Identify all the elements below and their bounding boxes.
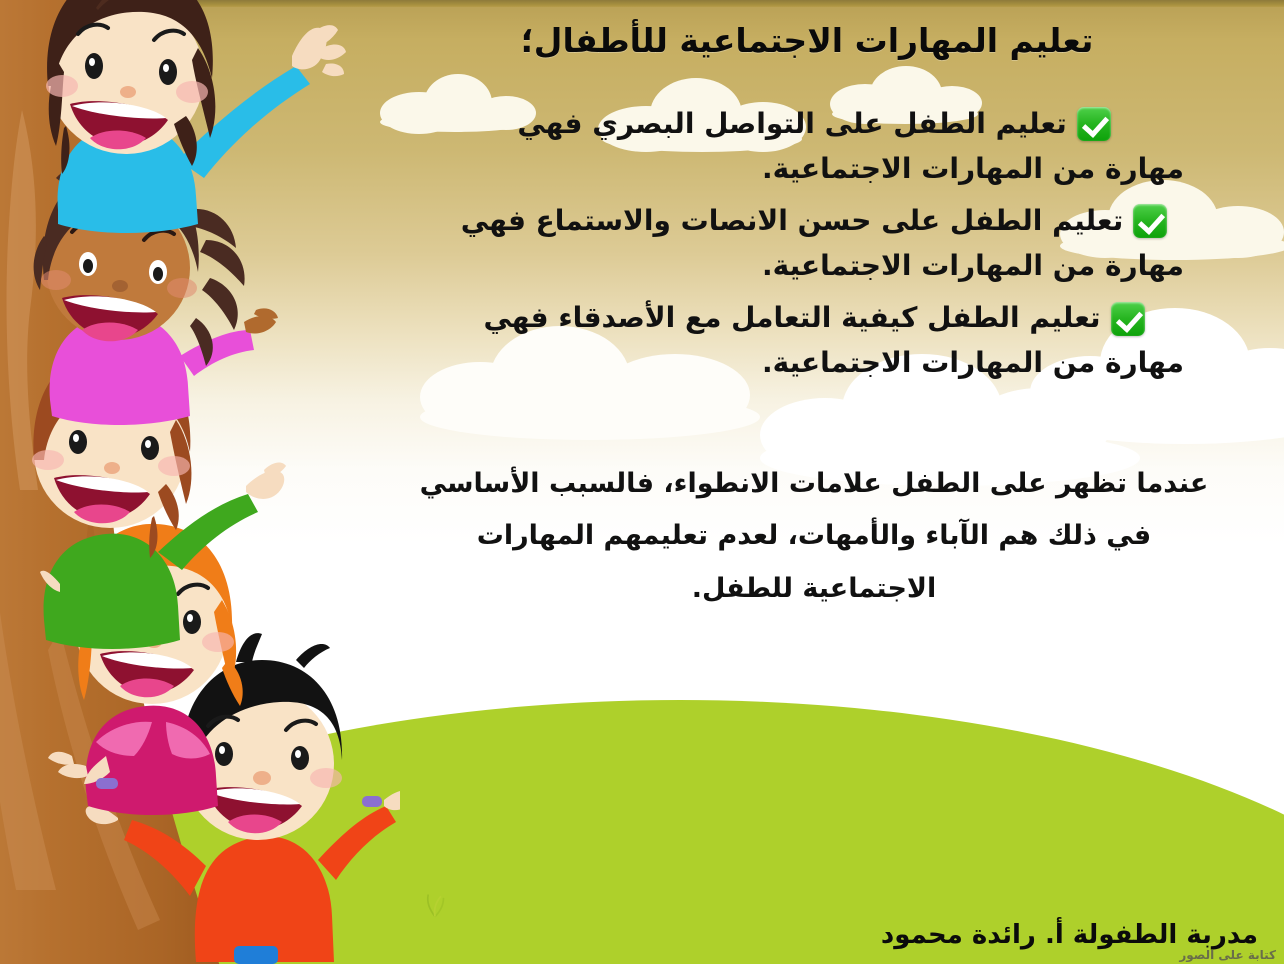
green-check-icon <box>1111 302 1145 336</box>
green-check-icon <box>1077 107 1111 141</box>
bullet-text-line2: مهارة من المهارات الاجتماعية. <box>762 343 1184 384</box>
list-item: تعليم الطفل على حسن الانصات والاستماع فه… <box>362 201 1266 286</box>
poster-canvas: تعليم المهارات الاجتماعية للأطفال؛ تعليم… <box>0 0 1284 964</box>
paragraph-line-3: الاجتماعية للطفل. <box>382 563 1246 616</box>
children-illustration <box>0 0 400 964</box>
list-item: تعليم الطفل على التواصل البصري فهي مهارة… <box>362 104 1266 189</box>
bullet-text-line2: مهارة من المهارات الاجتماعية. <box>762 149 1184 190</box>
child-boy-brown-hair <box>46 0 346 233</box>
page-title: تعليم المهارات الاجتماعية للأطفال؛ <box>362 22 1252 60</box>
list-item: تعليم الطفل كيفية التعامل مع الأصدقاء فه… <box>362 298 1266 383</box>
author-credit: مدربة الطفولة أ. رائدة محمود <box>881 921 1258 950</box>
watermark-text: كتابة على الصور <box>1179 948 1276 962</box>
bullet-list: تعليم الطفل على التواصل البصري فهي مهارة… <box>362 104 1266 384</box>
bullet-text-line1: تعليم الطفل على التواصل البصري فهي <box>517 104 1066 145</box>
poster-text-content: تعليم المهارات الاجتماعية للأطفال؛ تعليم… <box>362 0 1266 615</box>
paragraph-line-1: عندما تظهر على الطفل علامات الانطواء، فا… <box>382 458 1246 511</box>
bullet-text-line1: تعليم الطفل على حسن الانصات والاستماع فه… <box>461 201 1123 242</box>
bullet-text-line2: مهارة من المهارات الاجتماعية. <box>762 246 1184 287</box>
paragraph-line-2: في ذلك هم الآباء والأمهات، لعدم تعليمهم … <box>382 510 1246 563</box>
closing-paragraph: عندما تظهر على الطفل علامات الانطواء، فا… <box>362 458 1266 616</box>
bullet-text-line1: تعليم الطفل كيفية التعامل مع الأصدقاء فه… <box>483 298 1100 339</box>
grass-tuft-icon <box>418 886 452 920</box>
green-check-icon <box>1133 204 1167 238</box>
